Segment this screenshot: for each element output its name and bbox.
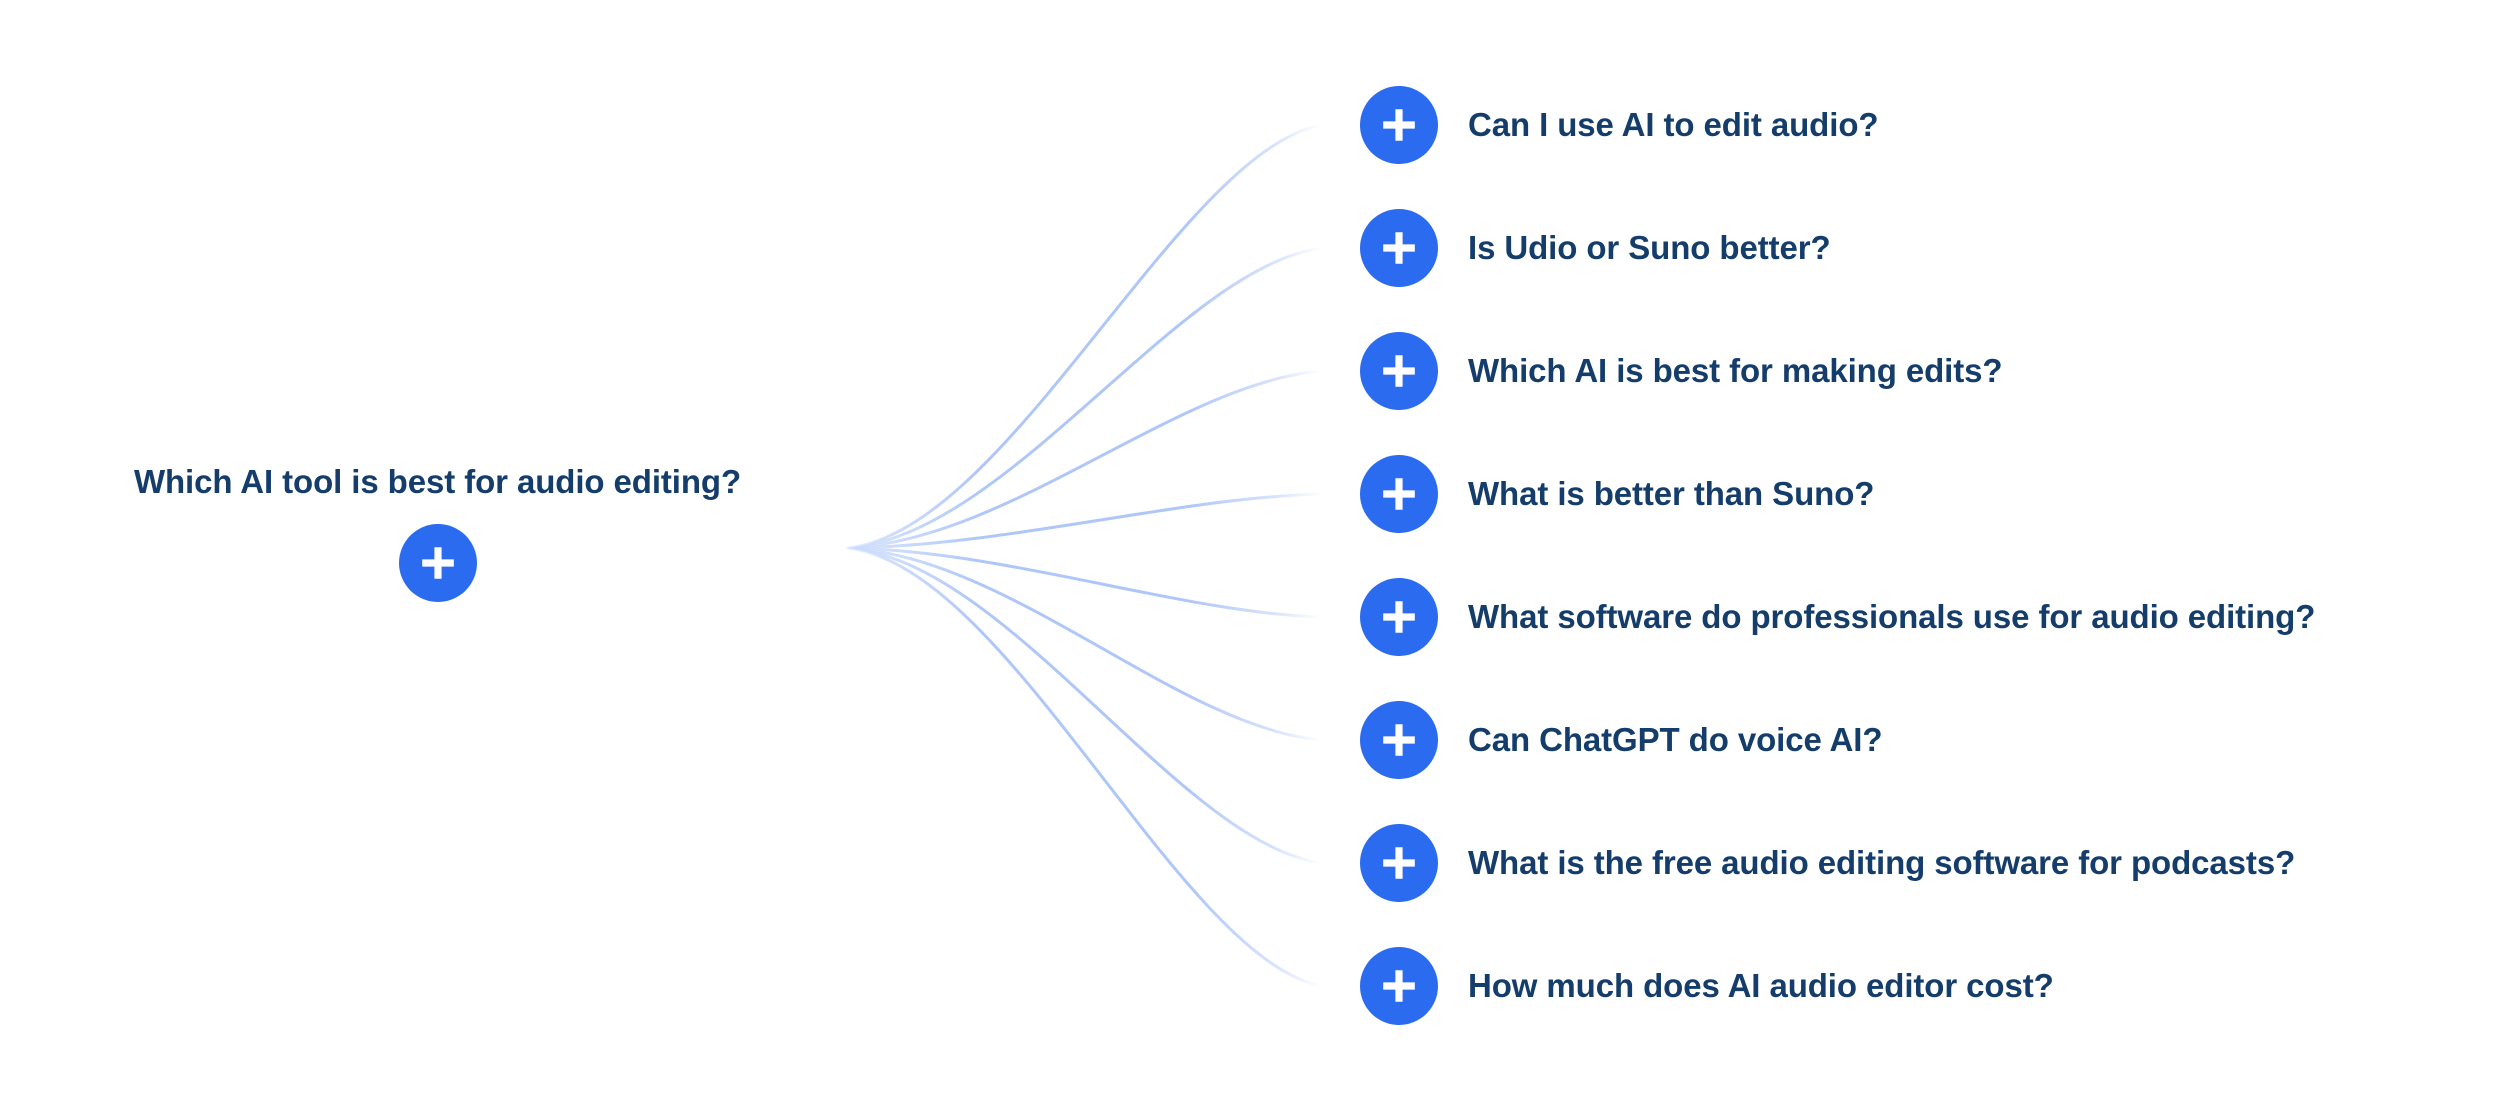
- root-question-label: Which AI tool is best for audio editing?: [60, 462, 815, 502]
- branch-item[interactable]: How much does AI audio editor cost?: [1360, 947, 2460, 1025]
- branch-item[interactable]: What software do professionals use for a…: [1360, 578, 2460, 656]
- branch-item[interactable]: Which AI is best for making edits?: [1360, 332, 2460, 410]
- plus-icon: [418, 543, 458, 583]
- connector-line: [845, 548, 1322, 740]
- plus-icon: [1379, 720, 1419, 760]
- branch-expand-button[interactable]: [1360, 209, 1438, 287]
- root-expand-button[interactable]: [399, 524, 477, 602]
- mindmap-canvas: Which AI tool is best for audio editing?…: [0, 0, 2500, 1094]
- branch-expand-button[interactable]: [1360, 947, 1438, 1025]
- branch-item[interactable]: Can I use AI to edit audio?: [1360, 86, 2460, 164]
- plus-icon: [1379, 474, 1419, 514]
- plus-icon: [1379, 228, 1419, 268]
- branch-expand-button[interactable]: [1360, 824, 1438, 902]
- plus-icon: [1379, 351, 1419, 391]
- branch-expand-button[interactable]: [1360, 86, 1438, 164]
- root-expand-wrap: [60, 524, 815, 602]
- root-node[interactable]: Which AI tool is best for audio editing?: [60, 462, 815, 602]
- branch-question-label: Which AI is best for making edits?: [1468, 353, 2002, 389]
- branch-question-label: Is Udio or Suno better?: [1468, 230, 1831, 266]
- branch-item[interactable]: Can ChatGPT do voice AI?: [1360, 701, 2460, 779]
- plus-icon: [1379, 105, 1419, 145]
- branch-item[interactable]: What is the free audio editing software …: [1360, 824, 2460, 902]
- branch-question-label: What is better than Suno?: [1468, 476, 1874, 512]
- branch-expand-button[interactable]: [1360, 578, 1438, 656]
- branch-question-label: Can I use AI to edit audio?: [1468, 107, 1878, 143]
- branch-list: Can I use AI to edit audio?Is Udio or Su…: [1360, 86, 2460, 1025]
- branch-expand-button[interactable]: [1360, 701, 1438, 779]
- branch-item[interactable]: What is better than Suno?: [1360, 455, 2460, 533]
- branch-question-label: What is the free audio editing software …: [1468, 845, 2295, 881]
- branch-question-label: How much does AI audio editor cost?: [1468, 968, 2054, 1004]
- plus-icon: [1379, 597, 1419, 637]
- connector-line: [845, 494, 1322, 548]
- connector-line: [845, 248, 1322, 548]
- plus-icon: [1379, 966, 1419, 1006]
- connector-line: [845, 548, 1322, 617]
- branch-expand-button[interactable]: [1360, 455, 1438, 533]
- branch-question-label: What software do professionals use for a…: [1468, 599, 2315, 635]
- connector-line: [845, 125, 1322, 548]
- branch-question-label: Can ChatGPT do voice AI?: [1468, 722, 1882, 758]
- connector-line: [845, 548, 1322, 863]
- plus-icon: [1379, 843, 1419, 883]
- connector-line: [845, 548, 1322, 986]
- branch-item[interactable]: Is Udio or Suno better?: [1360, 209, 2460, 287]
- connector-line: [845, 371, 1322, 548]
- branch-expand-button[interactable]: [1360, 332, 1438, 410]
